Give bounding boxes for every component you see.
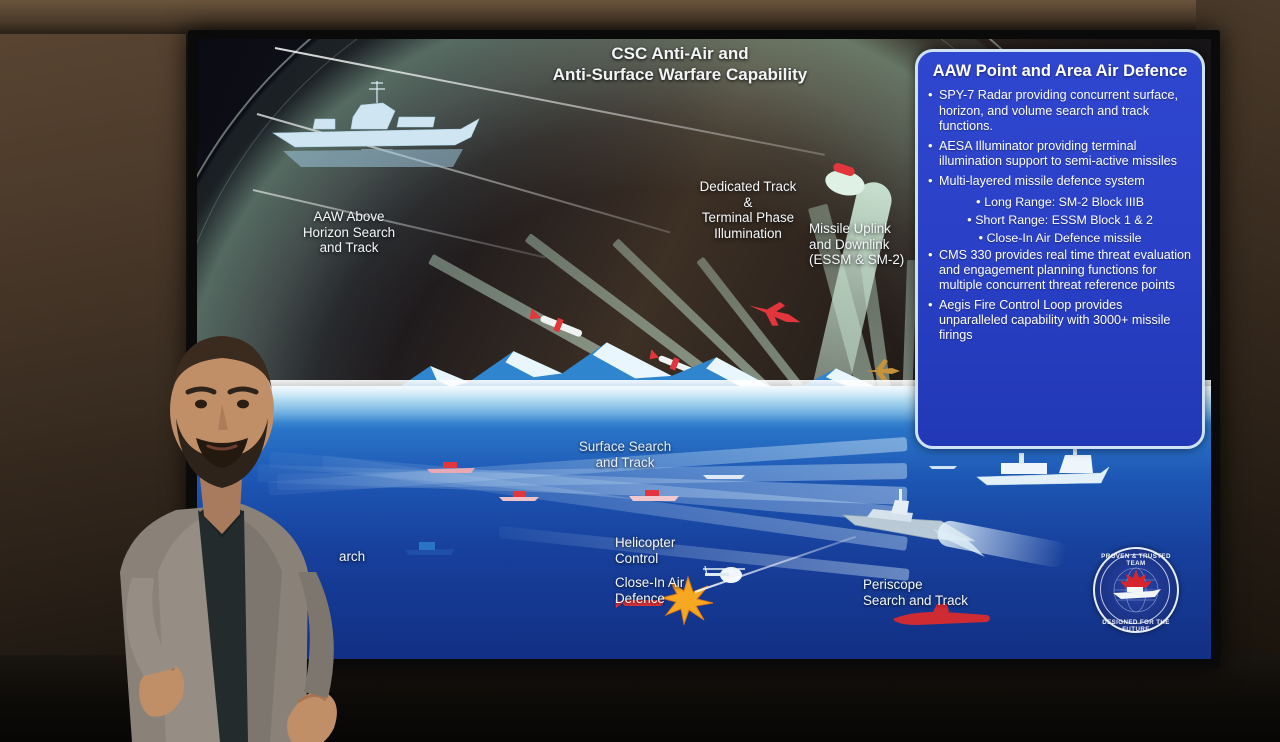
slide-title-line2: Anti-Surface Warfare Capability (465, 65, 895, 86)
wall-panel-top (0, 0, 1280, 34)
callout-line: Search and Track (863, 593, 1013, 609)
panel-bullet: CMS 330 provides real time threat evalua… (928, 248, 1192, 293)
panel-bullet: Aegis Fire Control Loop provides unparal… (928, 298, 1192, 343)
callout-dedicated-track: Dedicated Track & Terminal Phase Illumin… (685, 179, 811, 241)
callout-line: Control (615, 551, 725, 567)
callout-line: Horizon Search (269, 225, 429, 241)
callout-line: and Downlink (809, 237, 931, 253)
callout-periscope-search: Periscope Search and Track (863, 577, 1013, 608)
support-ship (973, 443, 1113, 495)
logo-bottom-text: DESIGNED FOR THE FUTURE (1095, 619, 1177, 633)
callout-line: & (685, 195, 811, 211)
panel-sub-bullet: Long Range: SM-2 Block IIIB (928, 194, 1192, 210)
callout-line: Helicopter (615, 535, 725, 551)
callout-line: (ESSM & SM-2) (809, 252, 931, 268)
logo-top-text: PROVEN & TRUSTED TEAM (1095, 553, 1177, 567)
surface-contact (425, 459, 479, 475)
panel-title: AAW Point and Area Air Defence (928, 62, 1192, 81)
surface-contact (927, 459, 961, 471)
panel-sub-bullet: Close-In Air Defence missile (928, 230, 1192, 246)
callout-helicopter-control: Helicopter Control (615, 535, 725, 566)
surface-contact (497, 489, 543, 503)
callout-line: Missile Uplink (809, 221, 931, 237)
callout-line: Terminal Phase (685, 210, 811, 226)
callout-line: Periscope (863, 577, 1013, 593)
callout-surface-search: Surface Search and Track (555, 439, 695, 470)
callout-close-in-air-defence: Close-In Air Defence (615, 575, 725, 606)
presenter (92, 242, 382, 742)
panel-sub-list: Long Range: SM-2 Block IIIB Short Range:… (928, 194, 1192, 246)
aaw-info-panel: AAW Point and Area Air Defence SPY-7 Rad… (915, 49, 1205, 449)
callout-line: Close-In Air (615, 575, 725, 591)
slide-title-line1: CSC Anti-Air and (465, 44, 895, 65)
slide-title: CSC Anti-Air and Anti-Surface Warfare Ca… (465, 44, 895, 85)
callout-line: AAW Above (269, 209, 429, 225)
callout-line: and Track (555, 455, 695, 471)
callout-line: Defence (615, 591, 725, 607)
callout-line: Illumination (685, 226, 811, 242)
panel-bullet: AESA Illuminator providing terminal illu… (928, 139, 1192, 169)
panel-bullet-list: SPY-7 Radar providing concurrent surface… (928, 88, 1192, 343)
panel-bullet: Multi-layered missile defence system (928, 174, 1192, 189)
conference-room: CSC Anti-Air and Anti-Surface Warfare Ca… (0, 0, 1280, 742)
callout-line: Surface Search (555, 439, 695, 455)
surface-contact (701, 467, 749, 481)
panel-bullet: SPY-7 Radar providing concurrent surface… (928, 88, 1192, 133)
callout-missile-uplink: Missile Uplink and Downlink (ESSM & SM-2… (809, 221, 931, 268)
callout-line: Dedicated Track (685, 179, 811, 195)
panel-sub-bullet: Short Range: ESSM Block 1 & 2 (928, 212, 1192, 228)
hero-ship-graphic (265, 71, 495, 191)
surface-contact (627, 487, 683, 503)
program-logo: PROVEN & TRUSTED TEAM DESIGNED FOR THE F… (1093, 547, 1179, 633)
